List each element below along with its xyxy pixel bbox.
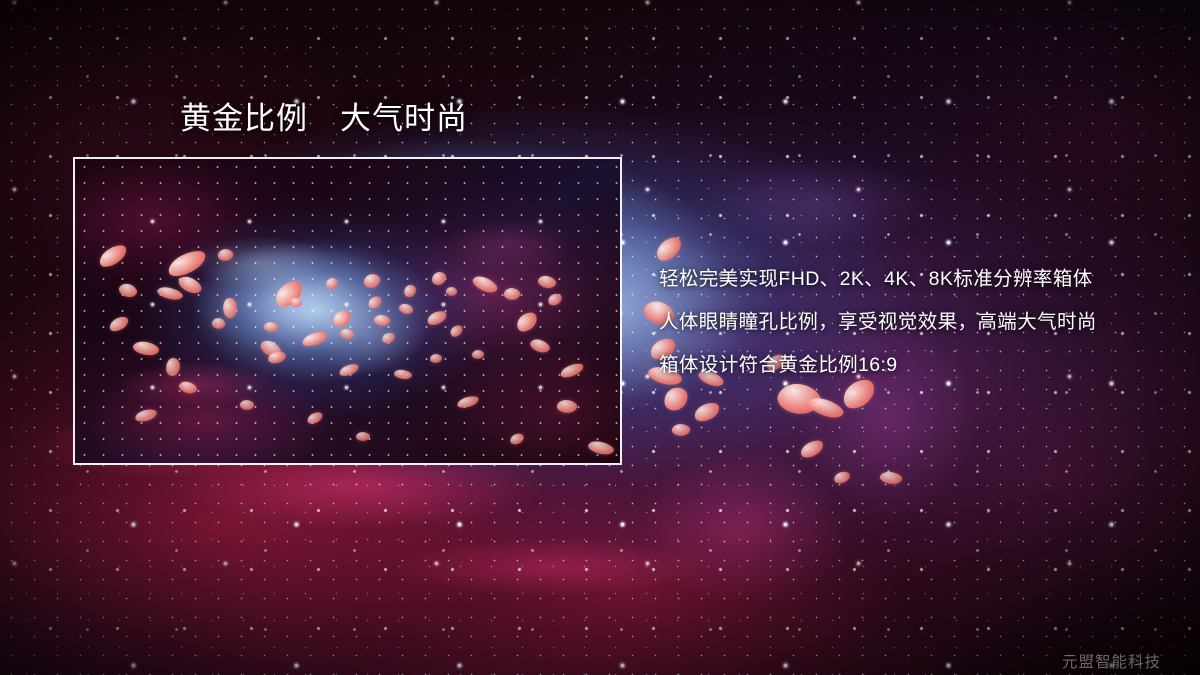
body-line: 轻松完美实现FHD、2K、4K、8K标准分辨率箱体: [659, 258, 1179, 301]
body-copy: 轻松完美实现FHD、2K、4K、8K标准分辨率箱体 人体眼睛瞳孔比例，享受视觉效…: [659, 258, 1179, 387]
framed-display-panel: [73, 157, 622, 465]
body-line: 人体眼睛瞳孔比例，享受视觉效果，高端大气时尚: [659, 301, 1179, 344]
panel-starfield: [75, 159, 620, 463]
slide-canvas: 黄金比例 大气时尚 轻松完美实现FHD、2K、4K、8K标准分辨率箱体 人体眼睛…: [0, 0, 1200, 675]
body-line: 箱体设计符合黄金比例16:9: [659, 344, 1179, 387]
page-title: 黄金比例 大气时尚: [180, 100, 468, 139]
watermark: 元盟智能科技: [1062, 650, 1161, 672]
